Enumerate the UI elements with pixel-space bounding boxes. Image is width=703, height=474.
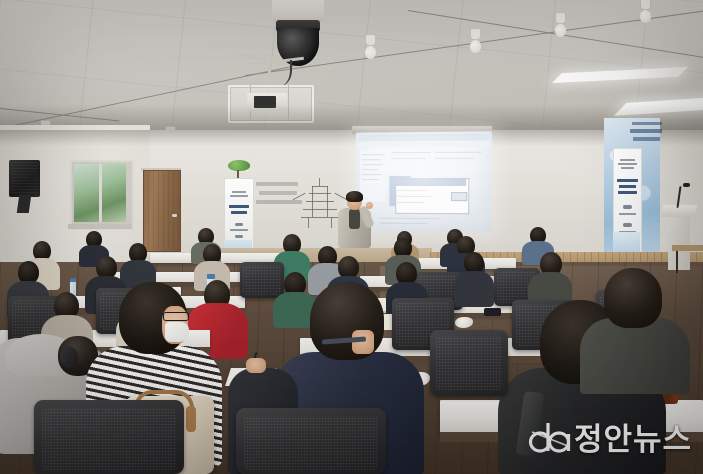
vignette	[0, 0, 703, 474]
lecture-hall-photo: 정안뉴스	[0, 0, 703, 474]
